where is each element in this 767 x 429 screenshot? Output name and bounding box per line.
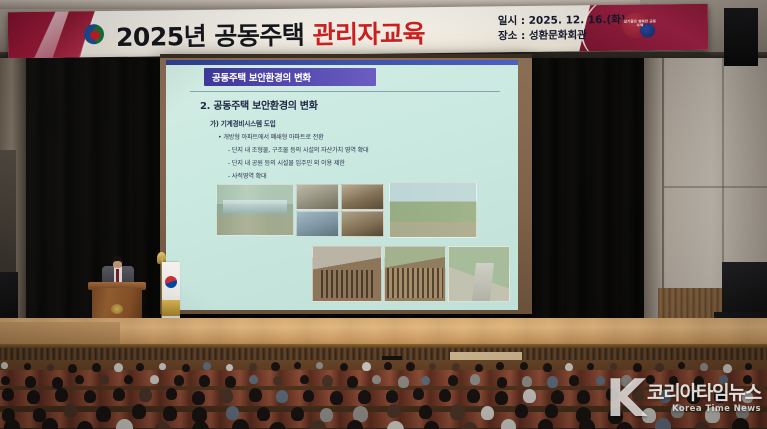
audience-head	[358, 390, 371, 404]
audience-head	[113, 388, 125, 401]
audience-head	[678, 362, 685, 369]
audience-head	[226, 406, 239, 420]
banner-date: 일시 : 2025. 12. 16.(화)	[498, 13, 626, 30]
audience-head	[470, 374, 480, 385]
slide-divider	[190, 91, 500, 92]
audience-head	[271, 362, 280, 371]
audience-head	[1, 362, 8, 369]
slide-bullet-3: - 단지 내 공원 등의 시설물 입주민 외 이용 제한	[228, 158, 345, 167]
audience-head	[429, 363, 436, 370]
audience-head	[139, 388, 152, 402]
flag-gold-trim	[162, 300, 180, 316]
audience-head	[421, 376, 430, 385]
slide-bullet-4: - 사적영역 확대	[228, 171, 267, 180]
slide-title: 공동주택 보안환경의 변화	[212, 70, 311, 84]
audience-head	[497, 377, 507, 388]
audience-head	[64, 404, 77, 418]
audience-head	[547, 376, 558, 388]
ceiling-speaker	[724, 8, 758, 66]
audience-head	[24, 363, 31, 370]
audience-head	[163, 406, 177, 421]
watermark: K 코리아타임뉴스 Korea Time News	[606, 379, 761, 419]
audience-head	[249, 363, 257, 371]
taeguk-icon	[165, 276, 177, 288]
audience-head	[372, 375, 381, 384]
audience-head	[387, 404, 400, 418]
audience-head	[495, 391, 508, 405]
park-fountain-photo	[216, 184, 294, 236]
audience-head	[569, 375, 579, 386]
audience-head	[276, 390, 288, 403]
audience-head	[520, 362, 528, 370]
projection-screen-top-bar	[160, 54, 532, 58]
audience-head	[166, 388, 177, 400]
audience-head	[300, 375, 309, 384]
slide-subtitle: 2. 공동주택 보안환경의 변화	[200, 97, 318, 112]
audience-head	[452, 363, 460, 371]
podium-emblem-icon	[111, 304, 123, 314]
audience-head	[496, 362, 504, 370]
audience-head	[159, 363, 166, 370]
projected-slide: 공동주택 보안환경의 변화 2. 공동주택 보안환경의 변화 가) 기계경비시스…	[166, 60, 518, 310]
slide-top-band	[166, 60, 518, 65]
audience-head	[413, 388, 424, 400]
audience-head	[249, 388, 262, 402]
audience-head	[448, 375, 458, 386]
audience-head	[294, 362, 301, 369]
audience-head	[543, 363, 552, 372]
audience-head	[220, 389, 233, 403]
audience-head	[577, 390, 590, 404]
right-wall-seam	[662, 58, 664, 326]
audience-head	[406, 362, 415, 371]
audience-head	[398, 376, 409, 388]
presenter-face	[113, 261, 122, 268]
audience-head	[100, 375, 109, 384]
audience-head	[1, 376, 10, 385]
audience-head	[439, 389, 451, 402]
banner-title-accent: 관리자교육	[312, 19, 425, 49]
audience-head	[203, 362, 211, 370]
audience-head	[25, 376, 36, 388]
banner-meta: 일시 : 2025. 12. 16.(화) 장소 : 성환문화회관	[498, 13, 626, 45]
audience-head	[84, 390, 96, 403]
photograph-scene: 2025년 공동주택 관리자교육 일시 : 2025. 12. 16.(화) 장…	[0, 0, 767, 429]
audience-head	[303, 390, 314, 402]
watermark-text: 코리아타임뉴스 Korea Time News	[647, 384, 761, 414]
audience-head	[257, 407, 270, 421]
banner-title: 2025년 공동주택 관리자교육	[116, 14, 425, 54]
audience-head	[481, 406, 494, 420]
audience-head	[419, 405, 432, 419]
audience-head	[386, 390, 398, 403]
audience-head	[114, 363, 123, 372]
audience-head	[467, 389, 480, 403]
audience-head	[384, 362, 392, 370]
audience-head	[745, 363, 752, 370]
audience-head	[291, 407, 304, 421]
audience-head	[96, 406, 111, 422]
audience-head	[330, 391, 343, 405]
audience-head	[316, 362, 323, 369]
audience-head	[182, 364, 190, 372]
slide-section-heading: 가) 기계경비시스템 도입	[210, 118, 276, 128]
audience-head	[545, 404, 558, 418]
audience-head	[27, 390, 40, 404]
fence-photo	[384, 246, 446, 302]
audience-head	[362, 362, 371, 371]
audience-head	[450, 404, 465, 420]
audience-head	[347, 376, 358, 388]
audience-head	[55, 388, 68, 402]
audience-head	[92, 363, 101, 372]
audience-head	[225, 376, 236, 388]
audience-head	[249, 375, 258, 384]
gate-photo	[312, 246, 382, 302]
audience-head	[723, 364, 732, 373]
audience-head	[124, 375, 133, 384]
audience-head	[2, 388, 14, 401]
audience-head	[75, 375, 84, 384]
banner-place: 장소 : 성환문화회관	[498, 28, 626, 45]
walkway-photo	[389, 182, 477, 238]
audience-head	[515, 404, 528, 418]
audience-head	[501, 419, 516, 429]
audience-head	[322, 375, 333, 387]
audience-head	[226, 364, 233, 371]
path-photo	[448, 246, 510, 302]
audience-head	[655, 363, 664, 372]
sculpture-photo-4	[341, 211, 384, 237]
audience-head	[732, 418, 749, 429]
banner-title-main: 2025년 공동주택	[116, 21, 313, 52]
sculpture-photo-3	[296, 211, 339, 237]
audience-head	[132, 404, 146, 419]
audience-head	[522, 376, 532, 387]
audience-head	[47, 364, 54, 371]
emblem-logo-icon	[82, 23, 106, 45]
watermark-korean: 코리아타임뉴스	[647, 384, 761, 403]
sculpture-photo-2	[341, 184, 384, 210]
audience-head	[523, 389, 536, 403]
audience-head	[136, 363, 144, 371]
slide-bullet-1: • 개방형 아파트에서 폐쇄형 아파트로 전환	[218, 132, 324, 141]
audience-head	[273, 376, 282, 385]
audience-head	[192, 391, 205, 405]
event-banner: 2025년 공동주택 관리자교육 일시 : 2025. 12. 16.(화) 장…	[8, 4, 709, 59]
audience-head	[52, 377, 63, 389]
audience-head	[587, 363, 594, 370]
audience-head	[596, 376, 605, 385]
audience-head	[340, 363, 348, 371]
audience-head	[320, 408, 333, 422]
watermark-english: Korea Time News	[647, 405, 761, 414]
audience-head	[551, 390, 564, 404]
audience-head	[655, 418, 671, 429]
audience-head	[700, 363, 708, 371]
slide-bullet-2: - 단지 내 조형물, 구조물 등의 시설의 자산가치 영역 확대	[228, 145, 369, 154]
audience-head	[475, 364, 483, 372]
audience-head	[579, 419, 595, 429]
sculpture-photo-1	[296, 184, 339, 210]
badge-slogan: 살기좋은 행복한 공동주택	[623, 19, 657, 28]
right-wall-seam-horizontal	[664, 186, 767, 188]
presenter-tie	[116, 269, 119, 282]
audience-head	[68, 364, 77, 373]
audience-head	[4, 419, 20, 429]
watermark-logo-icon: K	[606, 379, 643, 419]
audience-head	[199, 375, 210, 387]
audience-head	[174, 375, 184, 386]
audience-head	[42, 418, 58, 429]
audience-head	[150, 375, 159, 384]
audience-head	[565, 363, 573, 371]
audience-head	[538, 419, 553, 429]
banner-badge: 살기좋은 행복한 공동주택	[620, 10, 666, 45]
